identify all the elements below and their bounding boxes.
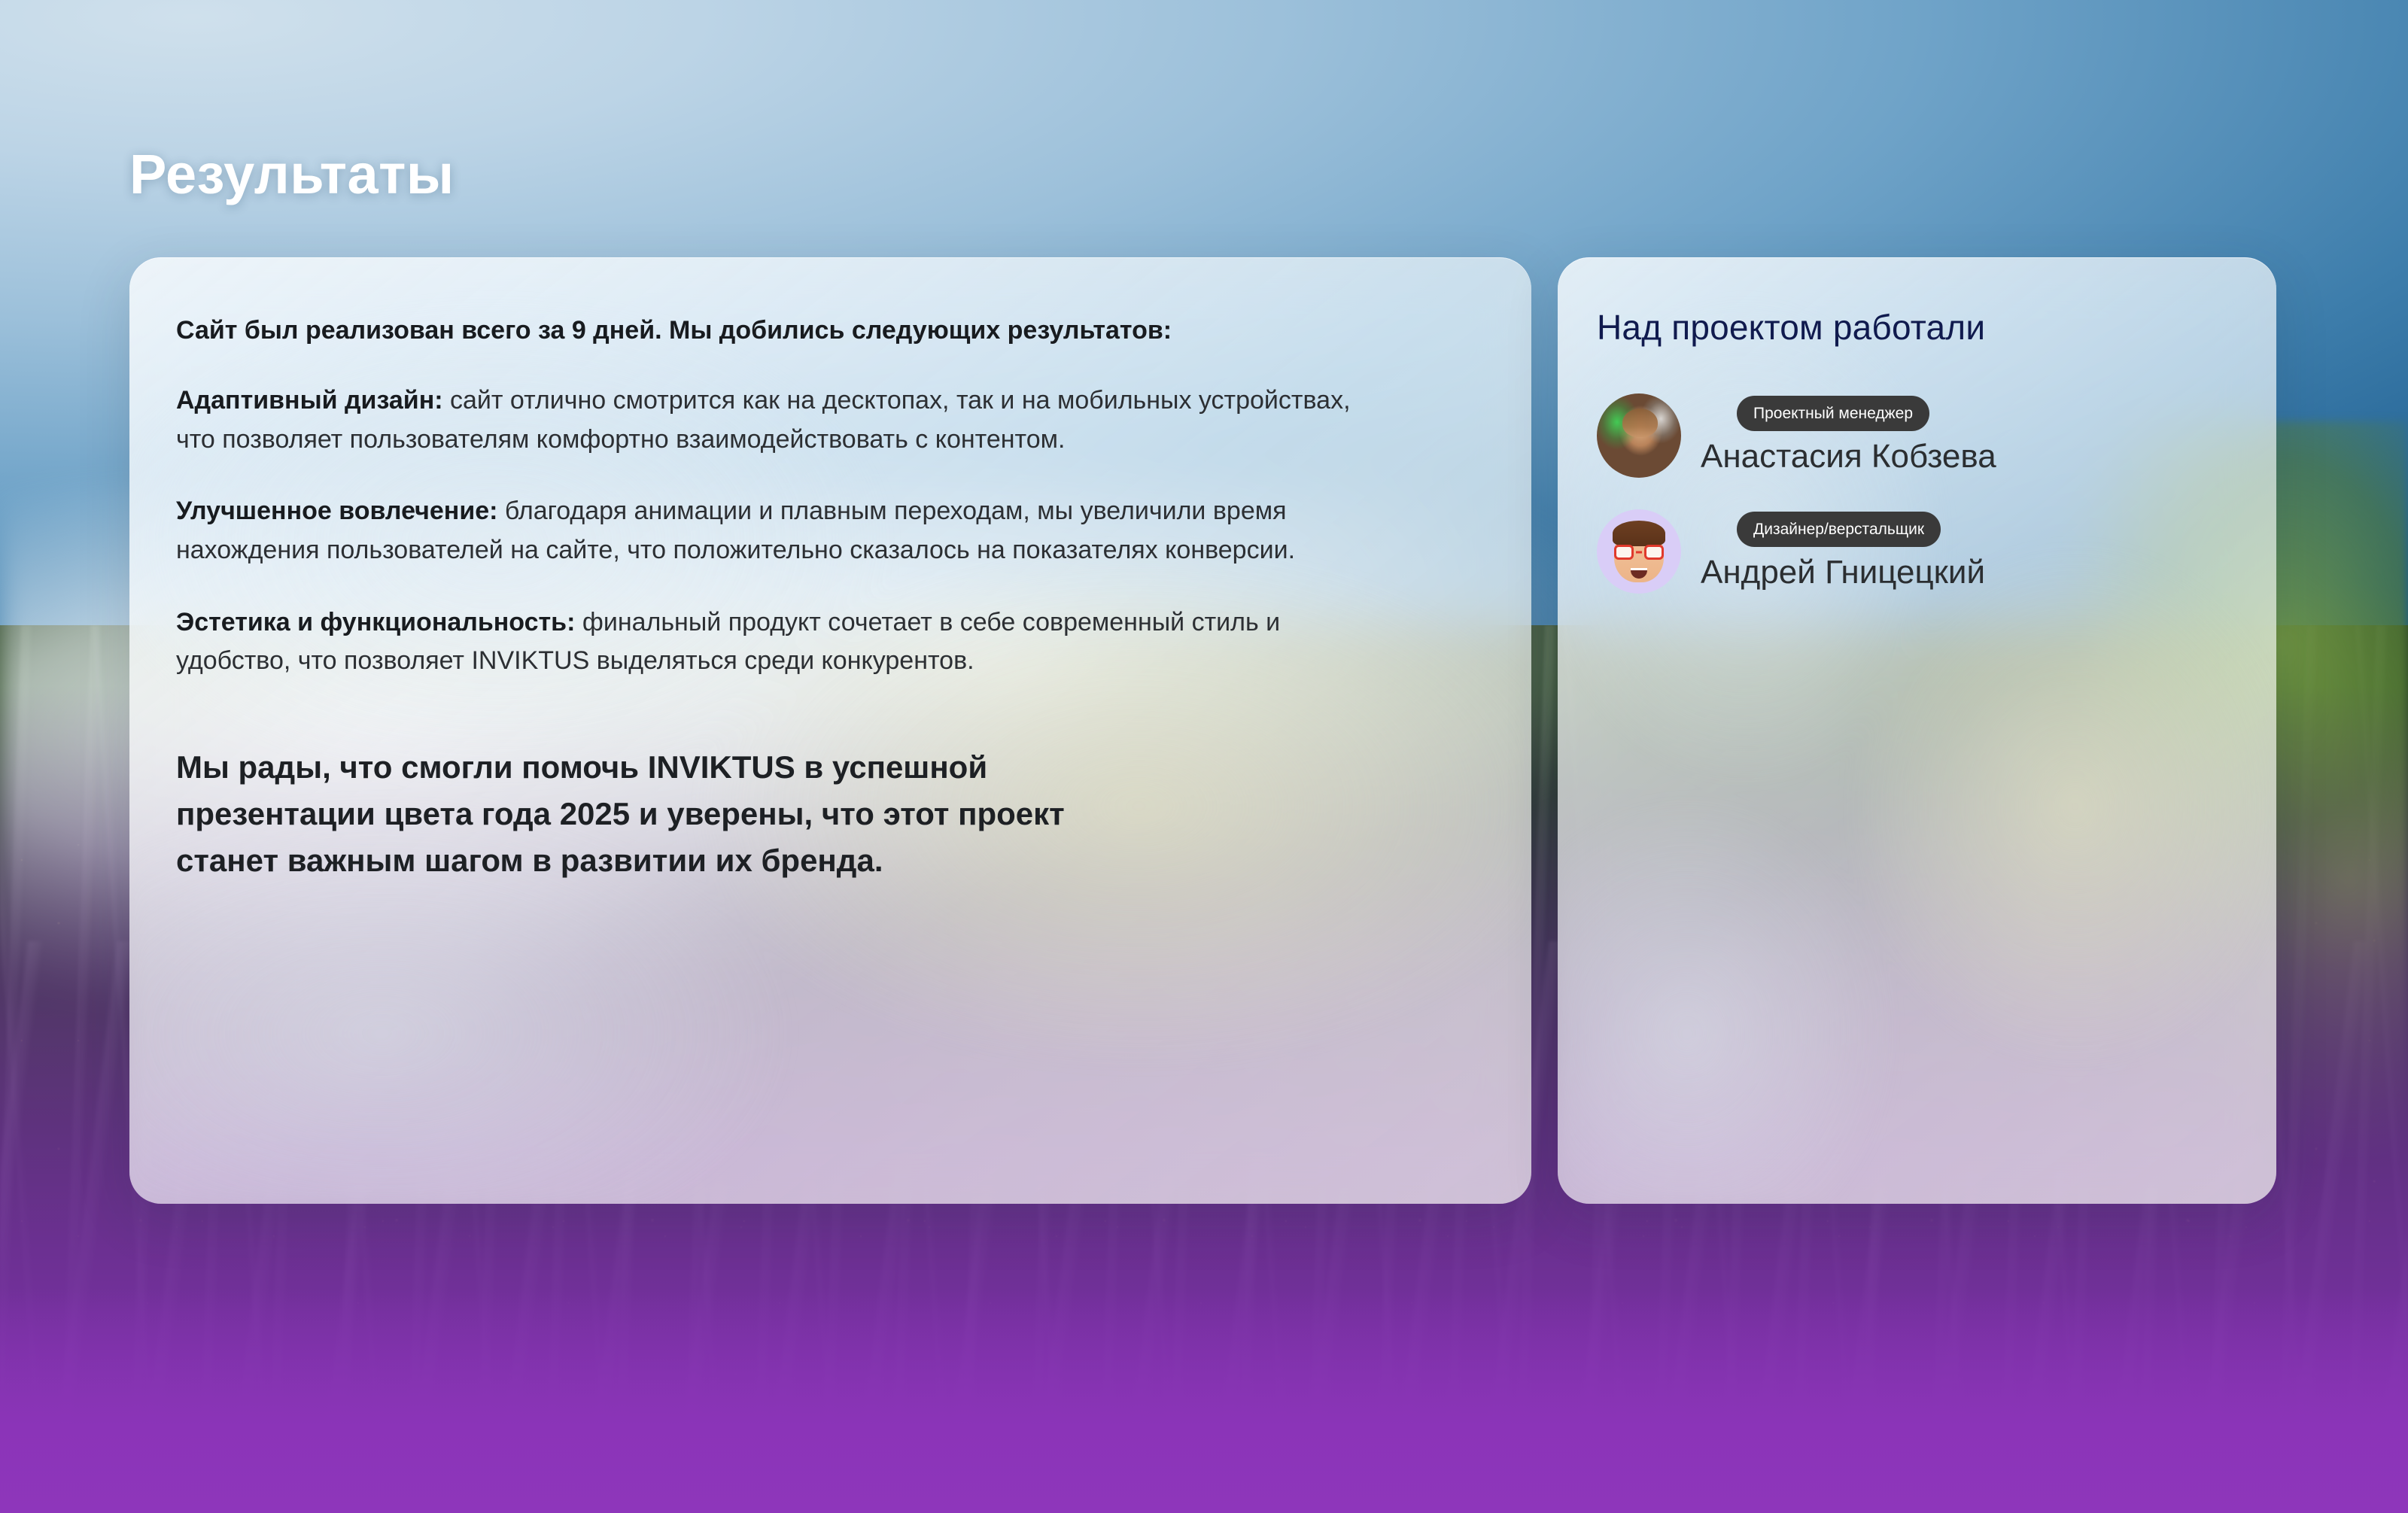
memoji-hair-shape <box>1613 521 1665 546</box>
result-point-aesthetics: Эстетика и функциональность: финальный п… <box>176 603 1373 681</box>
results-card: Сайт был реализован всего за 9 дней. Мы … <box>129 257 1531 1204</box>
team-member: Проектный менеджер Анастасия Кобзева <box>1597 393 2240 478</box>
memoji-glasses-icon <box>1614 545 1664 560</box>
team-member-name: Андрей Гницецкий <box>1701 554 1985 591</box>
page-title: Результаты <box>129 147 455 202</box>
avatar-memoji-andrey <box>1597 509 1681 594</box>
result-point-engagement: Улучшенное вовлечение: благодаря анимаци… <box>176 492 1373 570</box>
results-lead-text: Сайт был реализован всего за 9 дней. Мы … <box>176 316 1459 345</box>
result-point-label: Эстетика и функциональность: <box>176 608 575 636</box>
team-card-title: Над проектом работали <box>1597 308 2240 347</box>
results-card-body: Сайт был реализован всего за 9 дней. Мы … <box>129 257 1531 885</box>
team-member-info: Проектный менеджер Анастасия Кобзева <box>1701 396 1996 475</box>
result-point-adaptive-design: Адаптивный дизайн: сайт отлично смотритс… <box>176 381 1373 459</box>
avatar-photo-anastasia <box>1597 393 1681 478</box>
status-badge: Проектный менеджер <box>1737 396 1929 431</box>
result-point-label: Улучшенное вовлечение: <box>176 497 497 525</box>
team-member: Дизайнер/верстальщик Андрей Гницецкий <box>1597 509 2240 594</box>
team-card: Над проектом работали Проектный менеджер… <box>1558 257 2276 1204</box>
results-closing-text: Мы рады, что смогли помочь INVIKTUS в ус… <box>176 744 1154 884</box>
team-member-info: Дизайнер/верстальщик Андрей Гницецкий <box>1701 512 1985 591</box>
slide-content: Результаты Сайт был реализован всего за … <box>0 0 2408 1513</box>
result-point-label: Адаптивный дизайн: <box>176 386 443 415</box>
team-member-name: Анастасия Кобзева <box>1701 439 1996 475</box>
status-badge: Дизайнер/верстальщик <box>1737 512 1941 547</box>
team-card-body: Над проектом работали Проектный менеджер… <box>1558 257 2276 594</box>
